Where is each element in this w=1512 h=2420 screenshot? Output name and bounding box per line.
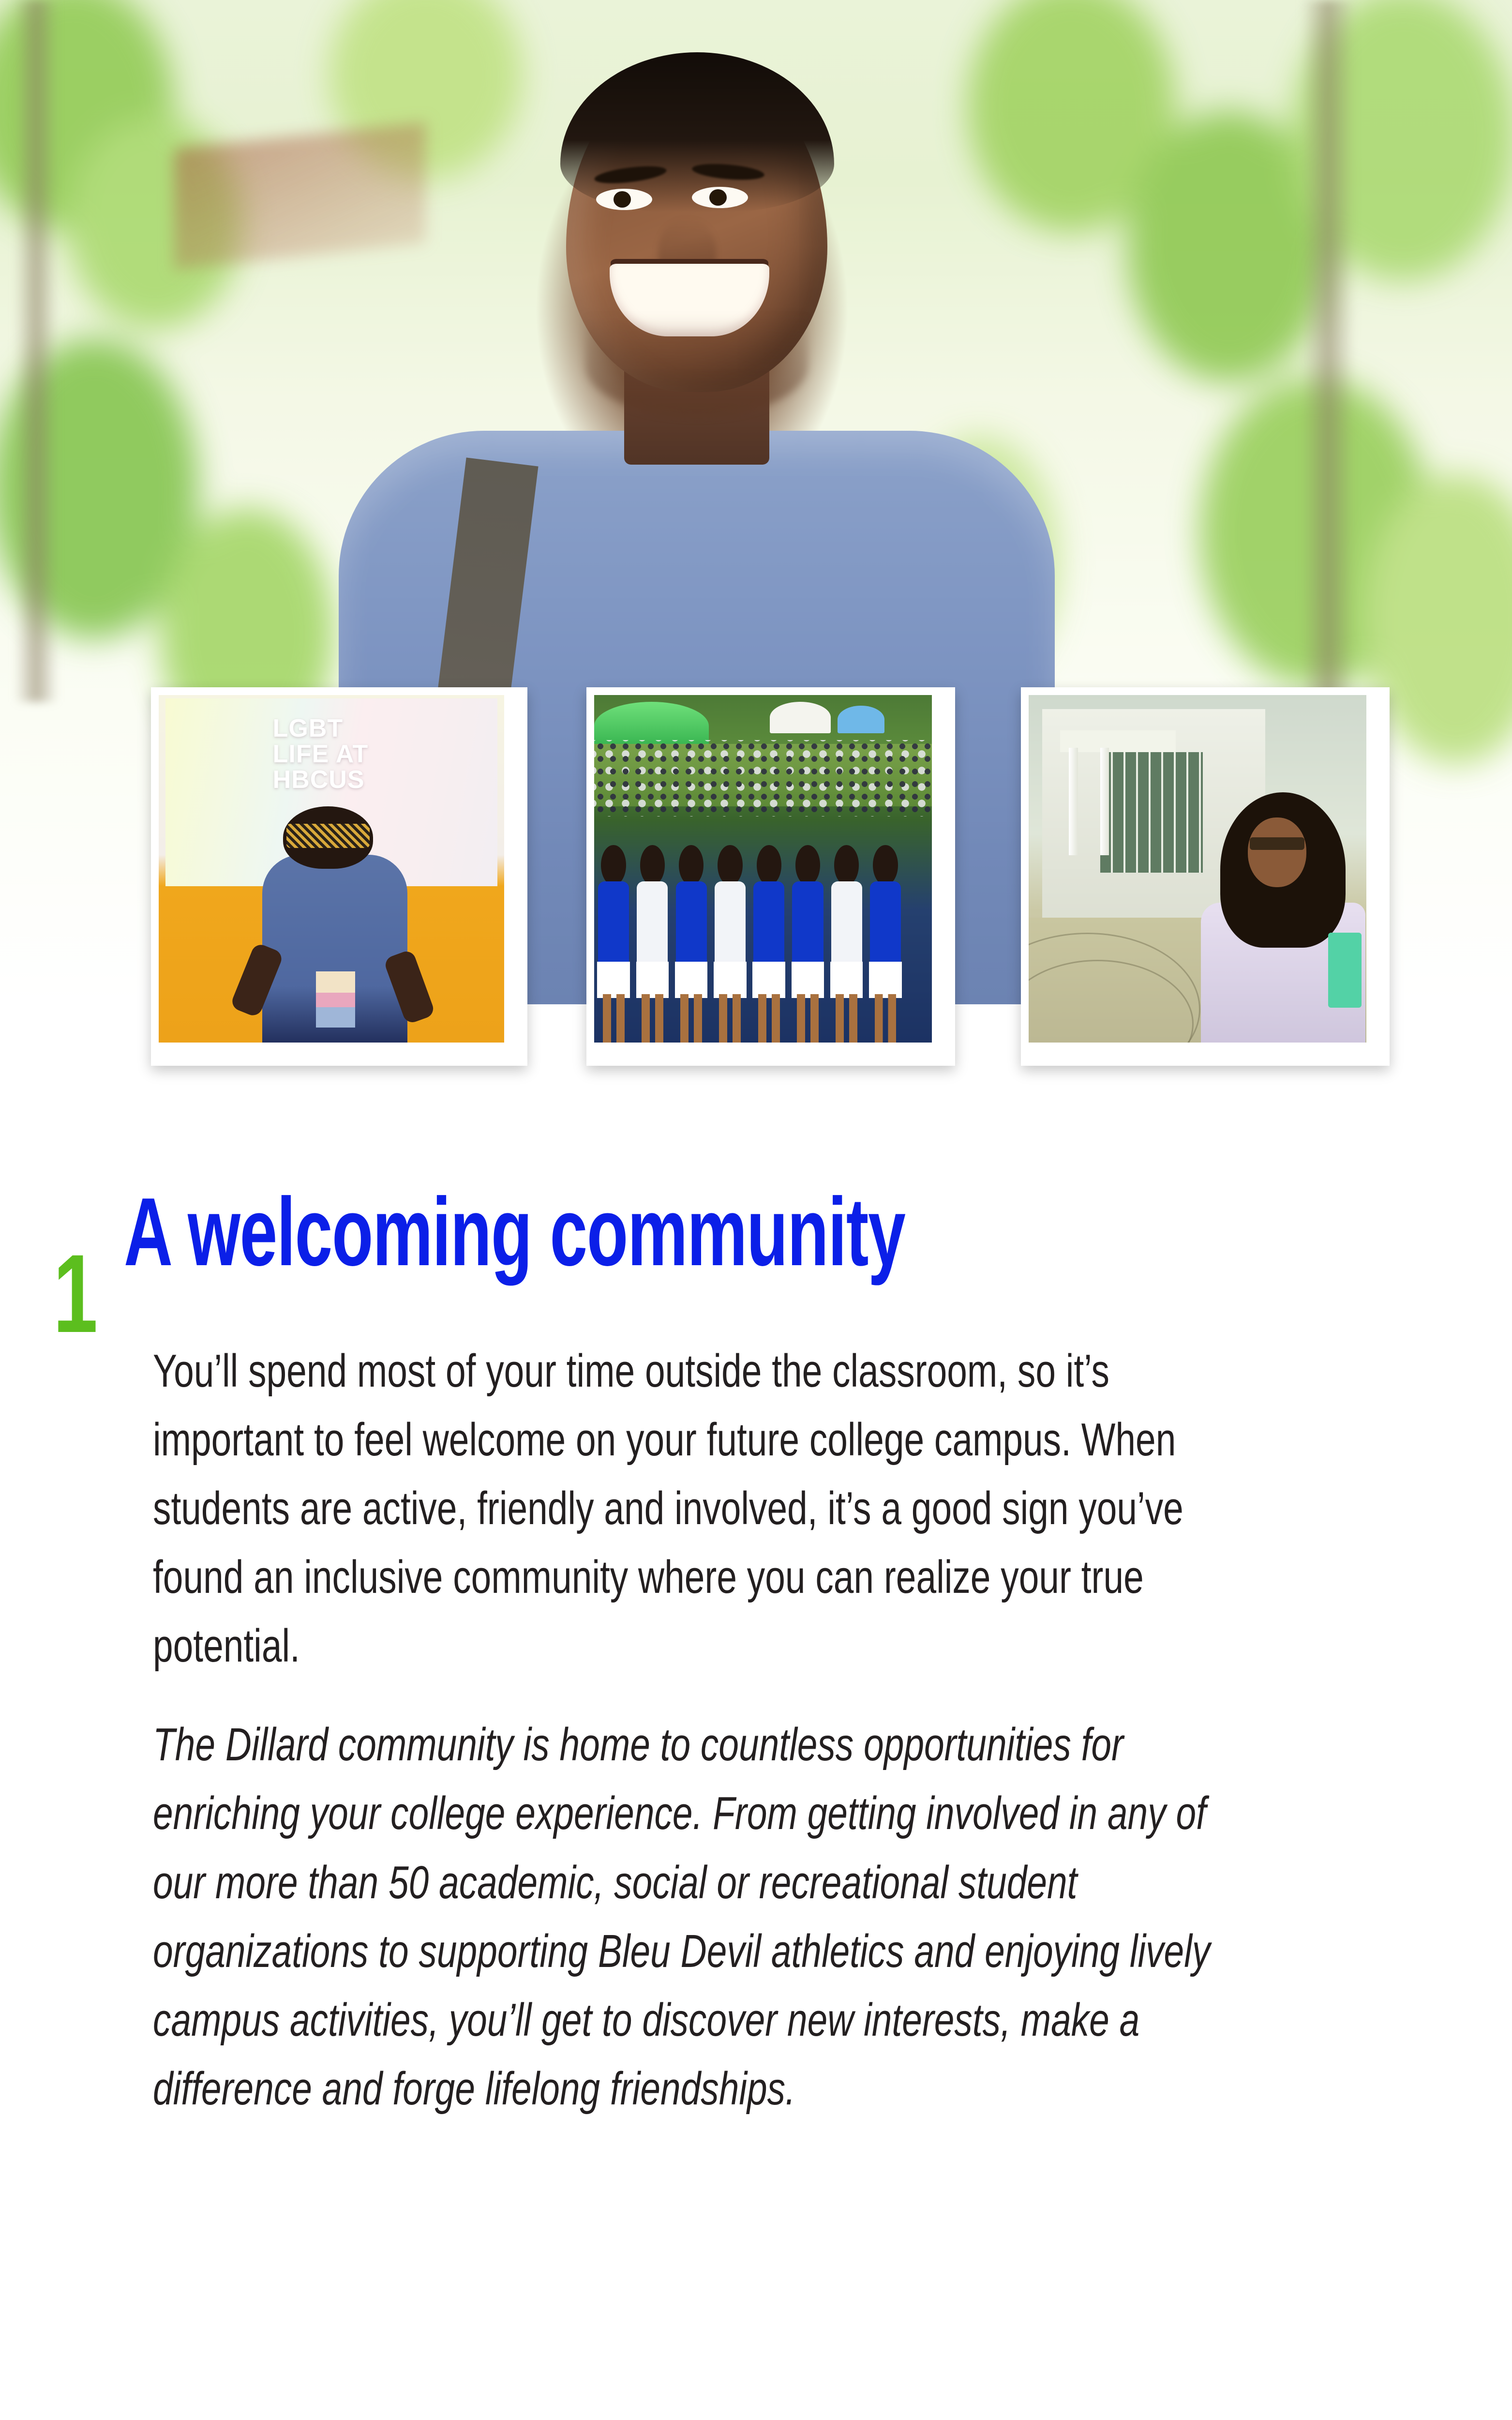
cheer-squad [594,841,932,1043]
subject-hair [560,52,834,212]
paragraph-detail: The Dillard community is home to countle… [153,1710,1217,2123]
page-title: A welcoming community [124,1193,905,1272]
thumbnail-1-photo: LGBTLIFE ATHBCUS [159,695,504,1043]
paragraph-intro: You’ll spend most of your time outside t… [153,1337,1217,1680]
face-mask [286,824,369,848]
thumbnail-cheerleaders-event[interactable] [586,687,955,1066]
section-body: You’ll spend most of your time outside t… [0,1337,1219,2123]
presenter-body [262,855,407,1043]
thumbnail-3-photo [1029,695,1366,1043]
student-figure [1177,792,1366,1043]
icon-row [0,2401,1512,2420]
thumbnail-lgbt-life-at-hbcus[interactable]: LGBTLIFE ATHBCUS [151,687,527,1066]
tree-trunk-left [15,0,58,702]
section-heading-row: 1 A welcoming community [0,1128,1512,1337]
tree-trunk-right [1302,0,1355,726]
thumbnail-student-campus-building[interactable] [1021,687,1390,1066]
section-content: 1 A welcoming community You’ll spend mos… [0,1128,1512,2153]
slide-text: LGBTLIFE ATHBCUS [273,716,369,793]
thumbnail-2-photo [594,695,932,1043]
tumbler [1328,933,1362,1008]
subject-chin-shadow [585,315,808,416]
section-number: 1 [53,1250,96,1337]
